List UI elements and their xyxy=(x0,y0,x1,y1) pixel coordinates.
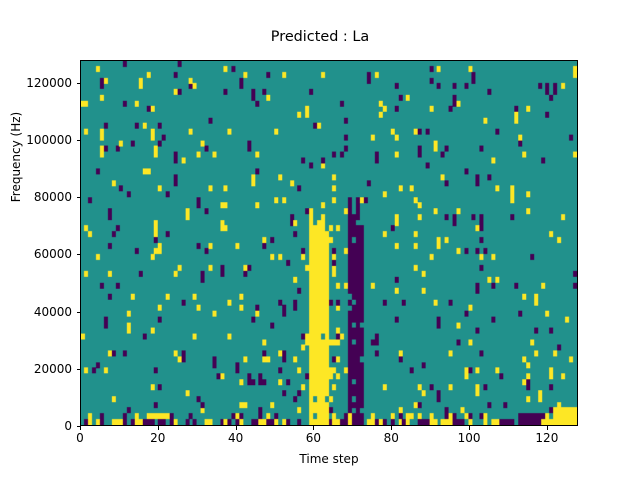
matplotlib-figure: Predicted : La 0204060801001200200004000… xyxy=(0,0,640,480)
x-axis-tick xyxy=(469,426,470,430)
x-axis-tick xyxy=(80,426,81,430)
y-axis-tick xyxy=(77,140,81,141)
y-axis-tick xyxy=(77,369,81,370)
x-axis-tick xyxy=(236,426,237,430)
x-axis-tick-label: 100 xyxy=(429,431,509,445)
chart-title: Predicted : La xyxy=(0,29,640,46)
y-axis-tick xyxy=(77,83,81,84)
x-axis-tick xyxy=(391,426,392,430)
y-axis-tick xyxy=(77,254,81,255)
x-axis-tick xyxy=(158,426,159,430)
x-axis-tick-label: 80 xyxy=(351,431,431,445)
y-axis-tick-label: 0 xyxy=(0,419,72,433)
y-axis-tick-label: 40000 xyxy=(0,305,72,319)
heatmap-canvas xyxy=(81,61,577,425)
heatmap-axes xyxy=(80,60,578,426)
x-axis-tick xyxy=(547,426,548,430)
x-axis-tick-label: 40 xyxy=(196,431,276,445)
x-axis-tick-label: 20 xyxy=(118,431,198,445)
y-axis-tick xyxy=(77,312,81,313)
y-axis-tick xyxy=(77,197,81,198)
x-axis-tick xyxy=(313,426,314,430)
y-axis-tick xyxy=(77,426,81,427)
y-axis-label: Frequency (Hz) xyxy=(9,57,23,257)
x-axis-tick-label: 120 xyxy=(507,431,587,445)
x-axis-label: Time step xyxy=(80,452,578,466)
x-axis-tick-label: 0 xyxy=(40,431,120,445)
x-axis-tick-label: 60 xyxy=(273,431,353,445)
y-axis-tick-label: 20000 xyxy=(0,362,72,376)
